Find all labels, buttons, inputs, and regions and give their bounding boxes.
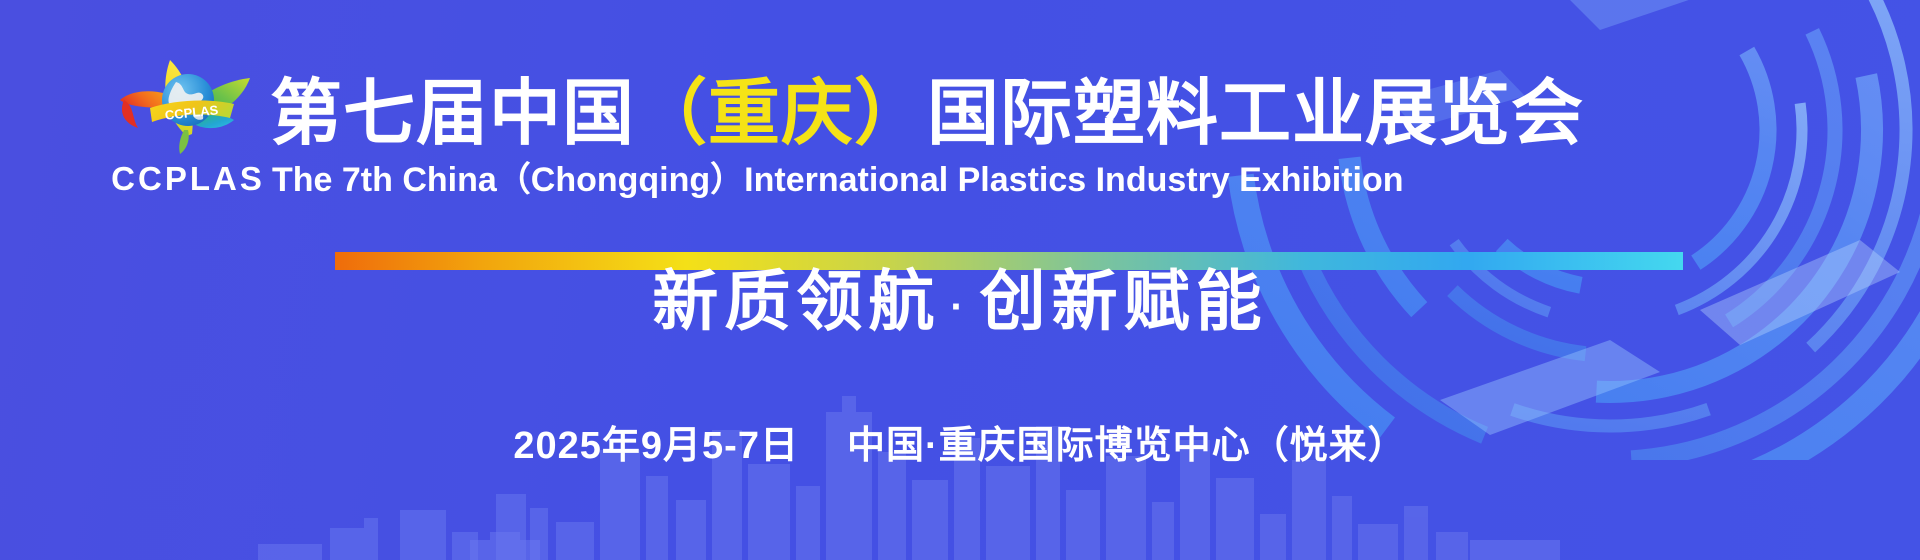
event-date: 2025年9月5-7日: [513, 425, 799, 467]
slogan-separator: ·: [940, 285, 979, 329]
event-banner: CCPLAS CCPLAS 第七届中国（重庆）国际塑料工业展览会 The 7th…: [0, 0, 1920, 560]
event-venue: 中国·重庆国际博览中心（悦来）: [847, 425, 1407, 467]
event-date-venue: 2025年9月5-7日中国·重庆国际博览中心（悦来）: [0, 422, 1920, 471]
swoosh-arc-decoration: [1140, 0, 1920, 460]
page-title: 第七届中国（重庆）国际塑料工业展览会: [270, 78, 1584, 150]
title-main-highlight: （重庆）: [635, 74, 927, 154]
title-main-after: 国际塑料工业展览会: [927, 74, 1584, 154]
slogan: 新质领航·创新赋能: [0, 260, 1920, 343]
title-main-before: 第七届中国: [270, 74, 635, 154]
page-subtitle: The 7th China（Chongqing）International Pl…: [272, 160, 1404, 201]
ccplas-leaf-globe-logo: CCPLAS: [104, 44, 272, 156]
logo: CCPLAS CCPLAS: [104, 44, 272, 195]
logo-wordmark: CCPLAS: [104, 162, 272, 195]
slogan-part-1: 新质领航: [652, 264, 940, 338]
slogan-part-2: 创新赋能: [980, 264, 1268, 338]
city-skyline-silhouette: [0, 390, 1920, 560]
